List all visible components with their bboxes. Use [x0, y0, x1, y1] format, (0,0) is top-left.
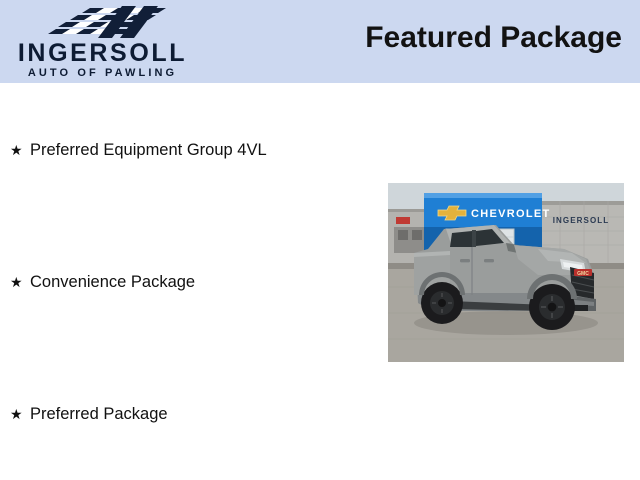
svg-text:INGERSOLL: INGERSOLL: [553, 216, 610, 225]
svg-text:CHEVROLET: CHEVROLET: [471, 208, 551, 220]
brand-name: INGERSOLL: [0, 40, 205, 66]
vehicle-photo: INGERSOLL CHEVROLET: [388, 183, 624, 362]
list-item: ★ Preferred Equipment Group 4VL: [10, 140, 267, 160]
star-bullet-icon: ★: [10, 404, 30, 424]
star-bullet-icon: ★: [10, 140, 30, 160]
list-item-label: Preferred Equipment Group 4VL: [30, 140, 267, 160]
page-title: Featured Package: [365, 21, 622, 55]
list-item-label: Preferred Package: [30, 404, 168, 424]
featured-package-list: ★ Preferred Equipment Group 4VL ★ Conven…: [0, 83, 380, 480]
dealer-brand-logo: INGERSOLL AUTO OF PAWLING: [0, 4, 210, 80]
page-header: INGERSOLL AUTO OF PAWLING Featured Packa…: [0, 0, 640, 83]
list-item-label: Convenience Package: [30, 272, 195, 292]
brand-tagline: AUTO OF PAWLING: [0, 67, 205, 79]
star-bullet-icon: ★: [10, 272, 30, 292]
gmc-badge-text: GMC: [577, 271, 589, 277]
list-item: ★ Convenience Package: [10, 272, 195, 292]
ingersoll-winged-flag-icon: [48, 6, 170, 38]
list-item: ★ Preferred Package: [10, 404, 168, 424]
